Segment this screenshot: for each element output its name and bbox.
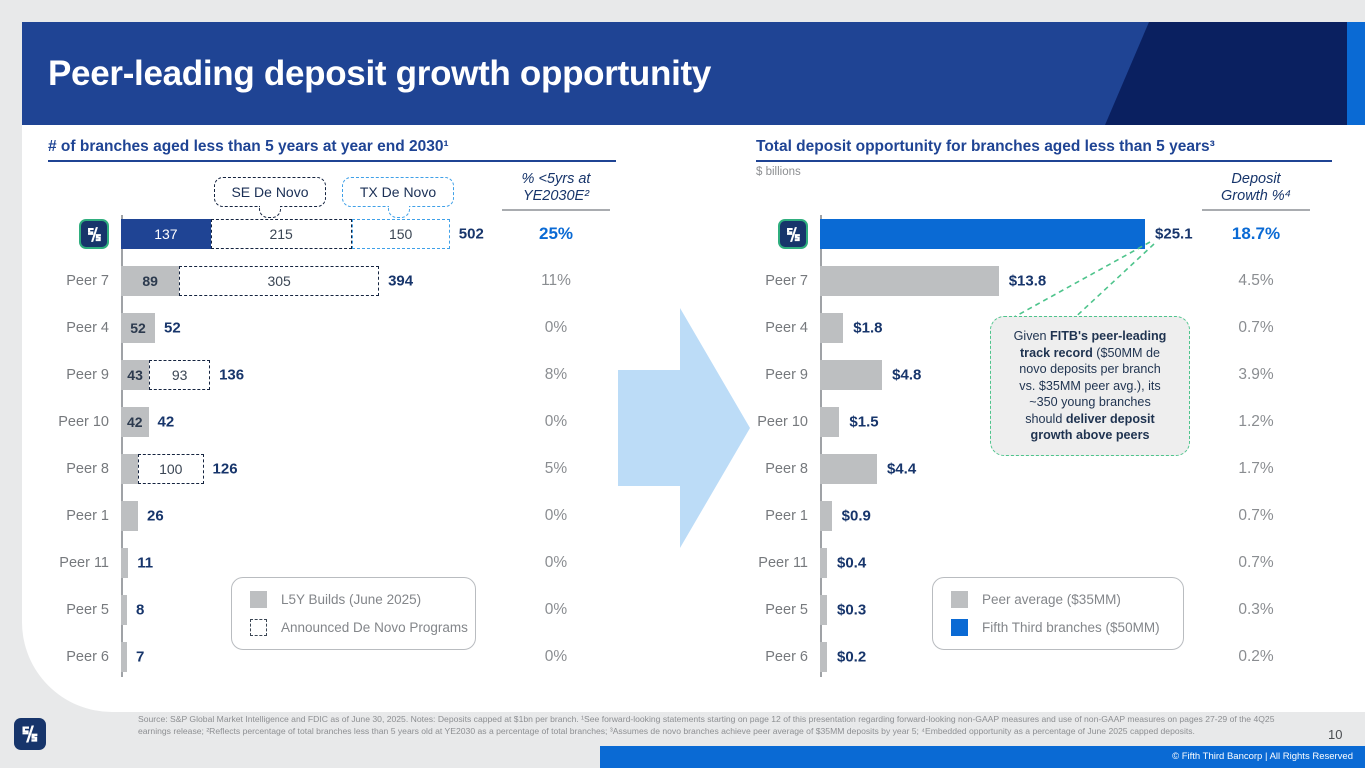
- bar-deposit: [820, 407, 839, 437]
- blue-swatch-icon: [951, 619, 968, 636]
- page-title: Peer-leading deposit growth opportunity: [48, 54, 711, 94]
- deposit-growth-cell: 4.5%: [1206, 272, 1306, 290]
- annot-line7-bold: growth above peers: [1031, 428, 1150, 442]
- row-label: Peer 7: [690, 273, 808, 289]
- fifth-third-logo-icon: [14, 718, 46, 750]
- deposit-growth-cell: 3.9%: [1206, 366, 1306, 384]
- bar-deposit-value: $1.5: [849, 414, 878, 431]
- bar-deposit-value: $4.4: [887, 461, 916, 478]
- right-panel-rule: [756, 160, 1332, 162]
- deposit-growth-cell: 18.7%: [1206, 224, 1306, 244]
- bar-deposit: [820, 266, 999, 296]
- slide-header-band: Peer-leading deposit growth opportunity: [22, 22, 1365, 125]
- table-row: Peer 1$0.90.7%: [0, 497, 1340, 535]
- annot-line2-plain: ($50MM de: [1093, 346, 1160, 360]
- row-label: Peer 9: [690, 367, 808, 383]
- deposit-growth-cell: 0.7%: [1206, 507, 1306, 525]
- bar-deposit-value: $0.2: [837, 649, 866, 666]
- footnote-text: Source: S&P Global Market Intelligence a…: [138, 714, 1298, 737]
- legend-label-peer-average: Peer average ($35MM): [982, 592, 1121, 607]
- annot-line2-bold: track record: [1020, 346, 1093, 360]
- pct-column-header-line2: YE2030E²: [498, 188, 614, 205]
- header-diagonal-accent: [1105, 22, 1365, 125]
- annot-line4: vs. $35MM peer avg.), its: [1019, 379, 1160, 393]
- bar-deposit-value: $0.3: [837, 602, 866, 619]
- deposit-growth-cell: 1.2%: [1206, 413, 1306, 431]
- row-label: Peer 6: [690, 649, 808, 665]
- fifth-third-badge-icon: [778, 219, 808, 249]
- deposit-growth-cell: 0.3%: [1206, 601, 1306, 619]
- deposit-growth-column-header: Deposit Growth %⁴: [1198, 171, 1314, 205]
- annot-line6-bold: deliver deposit: [1066, 412, 1155, 426]
- row-label: Peer 4: [690, 320, 808, 336]
- annot-line3: novo deposits per branch: [1019, 362, 1160, 376]
- deposit-growth-cell: 0.7%: [1206, 554, 1306, 572]
- row-label: Peer 1: [690, 508, 808, 524]
- slide-canvas: Peer-leading deposit growth opportunity …: [0, 0, 1365, 768]
- right-chart-legend: Peer average ($35MM) Fifth Third branche…: [932, 577, 1184, 650]
- pct-column-header-rule: [502, 209, 610, 211]
- legend-item-peer-average: Peer average ($35MM): [951, 591, 1165, 608]
- left-panel-rule: [48, 160, 616, 162]
- bar-deposit-value: $1.8: [853, 320, 882, 337]
- deposit-growth-cell: 1.7%: [1206, 460, 1306, 478]
- pct-column-header: % <5yrs at YE2030E²: [498, 171, 614, 205]
- deposit-growth-header-rule: [1202, 209, 1310, 211]
- gray-swatch-icon: [951, 591, 968, 608]
- bar-deposit-value: $0.4: [837, 555, 866, 572]
- row-label: Peer 11: [690, 555, 808, 571]
- five-third-glyph: [19, 723, 41, 745]
- bar-deposit-value: $0.9: [842, 508, 871, 525]
- deposit-growth-cell: 0.7%: [1206, 319, 1306, 337]
- bar-deposit: [820, 501, 832, 531]
- table-row: Peer 8$4.41.7%: [0, 450, 1340, 488]
- annotation-callout: Given FITB's peer-leading track record (…: [990, 316, 1190, 456]
- right-panel-units-note: $ billions: [756, 166, 801, 178]
- footer-copyright-bar: © Fifth Third Bancorp | All Rights Reser…: [600, 746, 1365, 768]
- legend-label-fifth-third-branches: Fifth Third branches ($50MM): [982, 620, 1160, 635]
- pct-column-header-line1: % <5yrs at: [498, 171, 614, 188]
- deposit-growth-header-line2: Growth %⁴: [1198, 188, 1314, 205]
- annot-line1-plain: Given: [1014, 329, 1050, 343]
- row-label: Peer 8: [690, 461, 808, 477]
- tx-de-novo-pill: TX De Novo: [342, 177, 454, 207]
- bar-deposit: [820, 360, 882, 390]
- legend-item-fifth-third-branches: Fifth Third branches ($50MM): [951, 619, 1165, 636]
- page-number: 10: [1328, 727, 1342, 742]
- bar-deposit: [820, 454, 877, 484]
- annot-line1-bold: FITB's peer-leading: [1050, 329, 1166, 343]
- bar-deposit: [820, 595, 827, 625]
- bar-deposit: [820, 313, 843, 343]
- se-de-novo-pill: SE De Novo: [214, 177, 326, 207]
- five-third-glyph: [784, 225, 803, 244]
- annot-line5: ~350 young branches: [1029, 395, 1151, 409]
- row-label: Peer 10: [690, 414, 808, 430]
- annot-line6-plain: should: [1025, 412, 1066, 426]
- bar-deposit-value: $4.8: [892, 367, 921, 384]
- deposit-growth-header-line1: Deposit: [1198, 171, 1314, 188]
- header-edge-accent: [1347, 22, 1365, 125]
- row-label: Peer 5: [690, 602, 808, 618]
- deposit-growth-cell: 0.2%: [1206, 648, 1306, 666]
- bar-deposit: [820, 548, 827, 578]
- header-corner-notch: [1301, 0, 1347, 22]
- bar-deposit: [820, 642, 827, 672]
